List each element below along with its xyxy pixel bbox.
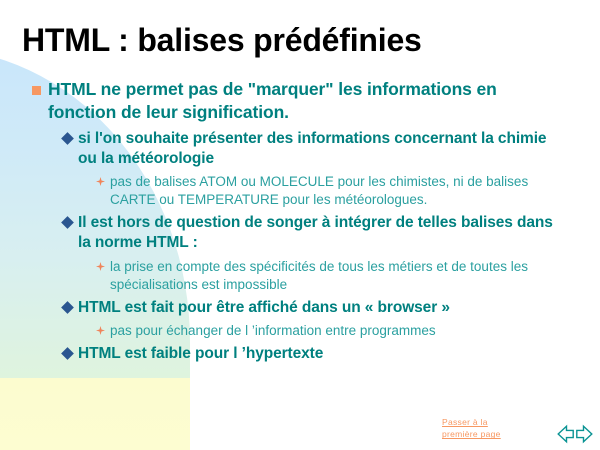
background-gradient-blob-lower	[0, 378, 190, 450]
orange-square-bullet-icon	[24, 78, 48, 95]
orange-sparkle-bullet-icon	[90, 322, 110, 335]
first-page-link[interactable]: Passer à la première page	[442, 416, 516, 441]
blue-diamond-bullet-icon	[56, 129, 78, 143]
list-item-label: HTML est faible pour l ’hypertexte	[78, 344, 600, 364]
list-item-label: pas de balises ATOM ou MOLECULE pour les…	[110, 173, 600, 209]
bullet-list: HTML ne permet pas de "marquer" les info…	[0, 78, 600, 368]
navigation-arrows-icon[interactable]	[556, 424, 594, 449]
orange-sparkle-bullet-icon	[90, 173, 110, 186]
blue-diamond-bullet-icon	[56, 298, 78, 312]
blue-diamond-bullet-icon	[56, 344, 78, 358]
list-item-label: HTML ne permet pas de "marquer" les info…	[48, 78, 600, 124]
list-item: Il est hors de question de songer à inté…	[0, 213, 600, 253]
list-item-label: pas pour échanger de l ’information entr…	[110, 322, 600, 340]
list-item: la prise en compte des spécificités de t…	[0, 258, 600, 294]
list-item-label: Il est hors de question de songer à inté…	[78, 213, 600, 253]
blue-diamond-bullet-icon	[56, 213, 78, 227]
orange-sparkle-bullet-icon	[90, 258, 110, 271]
list-item: si l'on souhaite présenter des informati…	[0, 129, 600, 169]
list-item-label: si l'on souhaite présenter des informati…	[78, 129, 600, 169]
list-item-label: HTML est fait pour être affiché dans un …	[78, 298, 600, 318]
list-item: pas pour échanger de l ’information entr…	[0, 322, 600, 340]
list-item: pas de balises ATOM ou MOLECULE pour les…	[0, 173, 600, 209]
list-item: HTML est faible pour l ’hypertexte	[0, 344, 600, 364]
list-item: HTML ne permet pas de "marquer" les info…	[0, 78, 600, 124]
list-item: HTML est fait pour être affiché dans un …	[0, 298, 600, 318]
page-title: HTML : balises prédéfinies	[22, 24, 578, 58]
slide-canvas: HTML : balises prédéfinies HTML ne perme…	[0, 0, 600, 450]
list-item-label: la prise en compte des spécificités de t…	[110, 258, 600, 294]
